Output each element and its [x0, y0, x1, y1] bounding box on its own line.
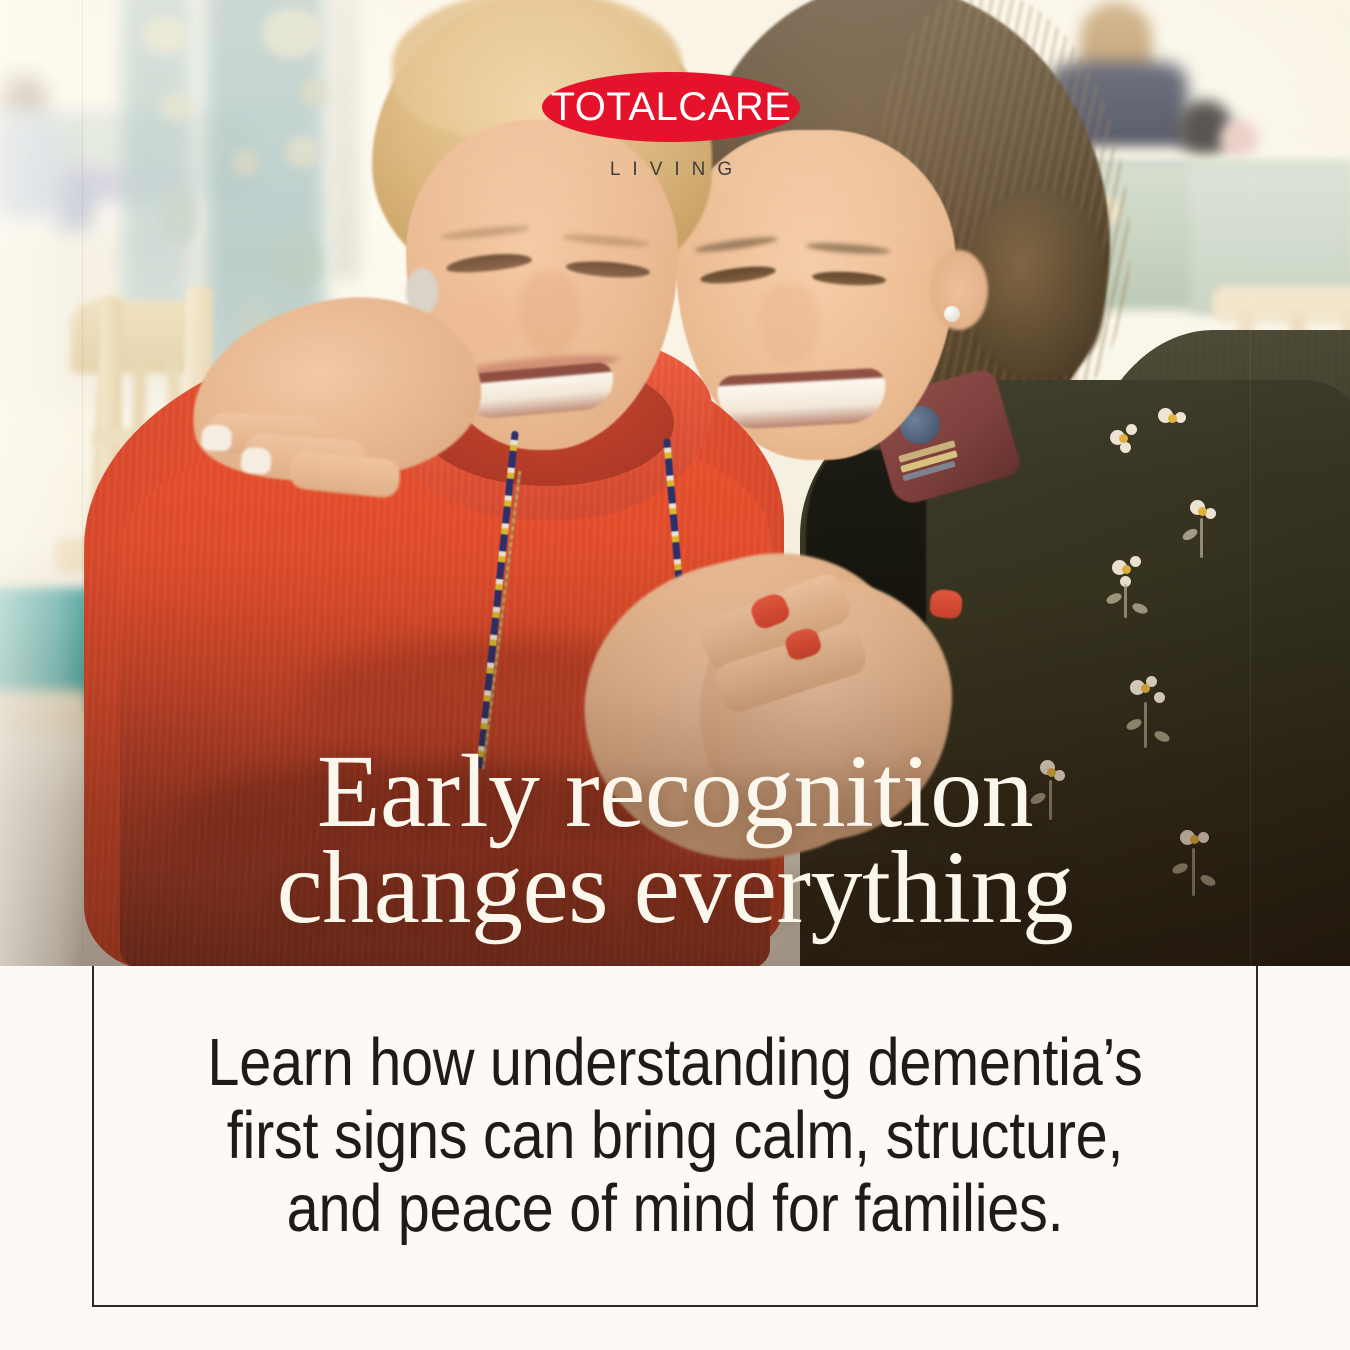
curtain-floral-motif	[275, 230, 323, 292]
painted-nail	[929, 588, 964, 619]
curtain-floral-motif	[232, 150, 258, 176]
logo-wordmark: TOTALCARE	[551, 87, 792, 127]
curtain-floral-motif	[286, 136, 320, 168]
curtain-floral-motif	[262, 8, 322, 58]
hero-photo: TOTALCARE LIVING Early recognition chang…	[0, 0, 1350, 966]
curtain-floral-motif	[160, 186, 200, 246]
curtain-panel	[330, 0, 360, 280]
caption-panel: Learn how understanding dementia’s first…	[92, 966, 1258, 1307]
background-mug	[1220, 120, 1258, 156]
resident-nose	[520, 272, 580, 356]
curtain-floral-motif	[160, 92, 194, 122]
caption-text: Learn how understanding dementia’s first…	[175, 1026, 1174, 1245]
headline-line-2: changes everything	[120, 840, 1230, 936]
curtain-floral-motif	[300, 78, 330, 106]
chair-frame	[0, 690, 90, 734]
carer-nose	[760, 284, 818, 366]
headline-line-1: Early recognition	[120, 744, 1230, 840]
social-post-canvas: TOTALCARE LIVING Early recognition chang…	[0, 0, 1350, 1350]
carer-earring	[944, 306, 960, 322]
headline: Early recognition changes everything	[0, 744, 1350, 935]
carer-ear	[930, 250, 988, 330]
curtain-floral-motif	[142, 16, 188, 54]
logo-subtitle: LIVING	[542, 160, 800, 179]
logo-ellipse-shape: TOTALCARE	[542, 72, 800, 142]
